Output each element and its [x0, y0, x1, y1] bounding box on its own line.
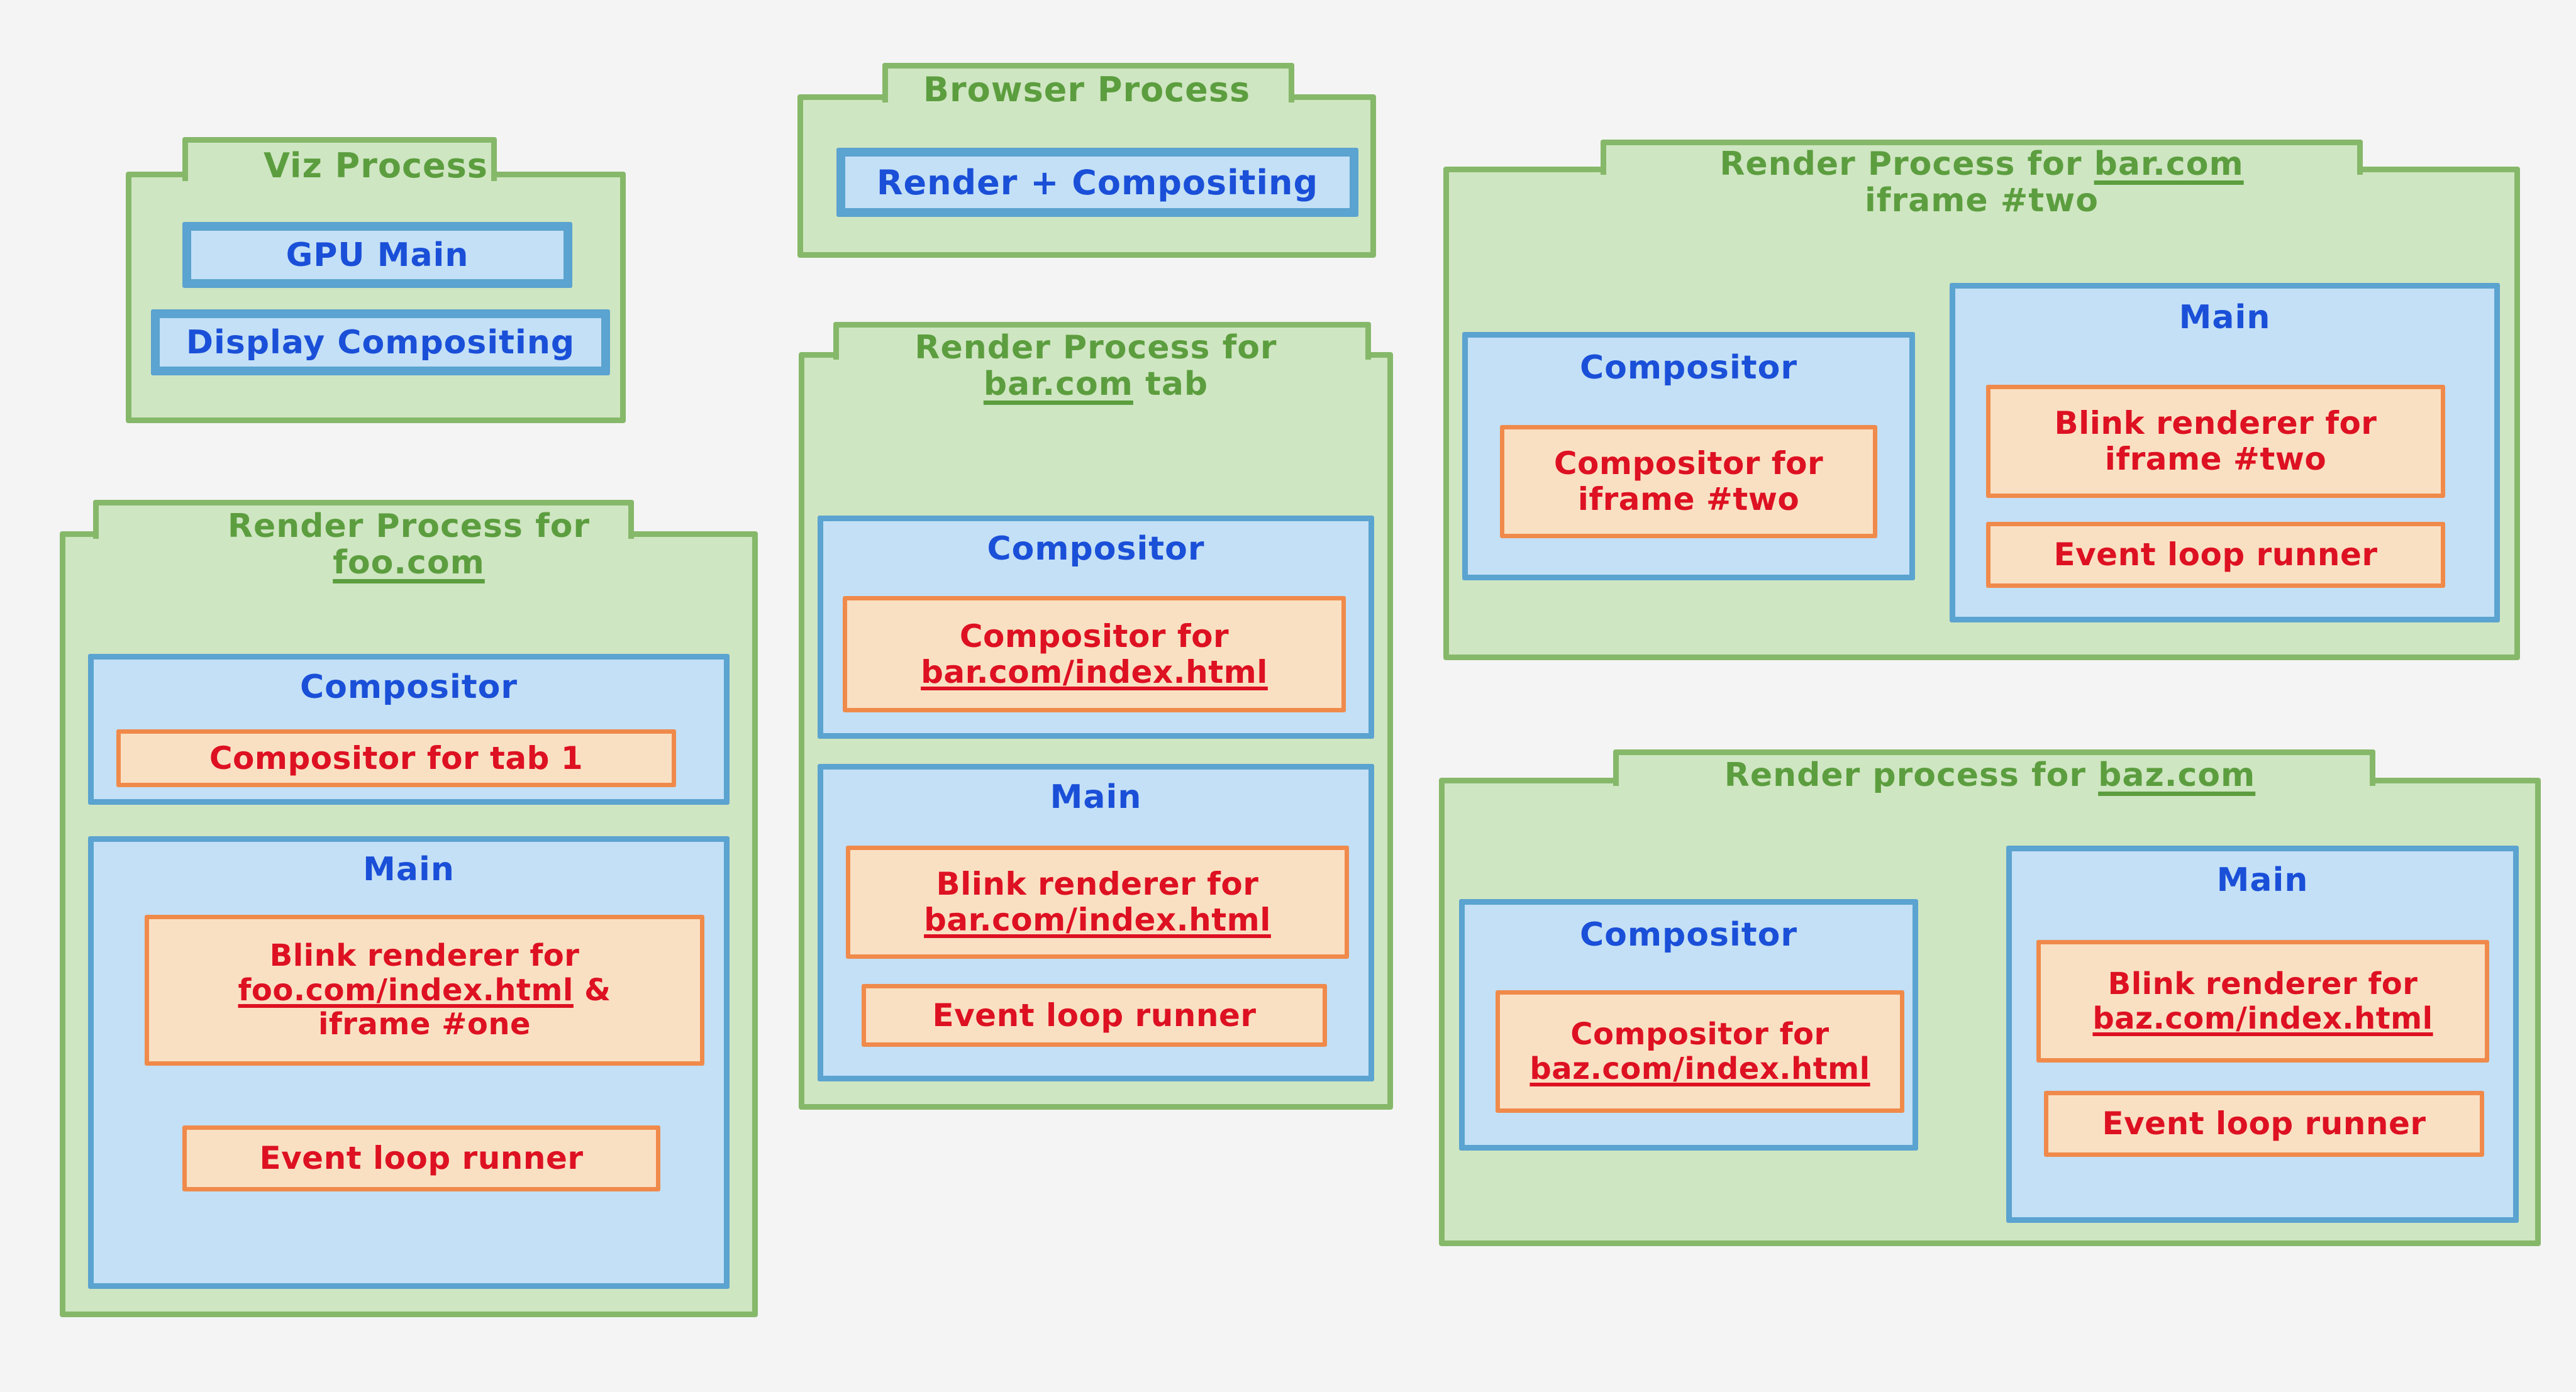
task-line1: Blink renderer for [2055, 405, 2377, 441]
task-line2: iframe #two [2105, 441, 2327, 477]
task-line1: Compositor for [1570, 1017, 1829, 1052]
process-title-line2: iframe #two [1865, 182, 2099, 219]
thread-label-display-compositing: Display Compositing [186, 324, 575, 362]
process-title-bar-iframe: Render Process for bar.com iframe #two [1443, 146, 2520, 219]
task-label-baz-compositor-url: Compositor for baz.com/index.html [1529, 1017, 1870, 1086]
task-line1: Compositor for [1554, 445, 1823, 482]
task-box-baz-blink-renderer: Blink renderer for baz.com/index.html [2036, 940, 2489, 1063]
task-box-bar-tab-blink-renderer: Blink renderer for bar.com/index.html [846, 846, 1349, 959]
thread-box-render-compositing: Render + Compositing [836, 148, 1358, 217]
task-label-bar-iframe-compositor: Compositor for iframe #two [1554, 446, 1823, 517]
task-label-bar-iframe-event-loop-runner: Event loop runner [2053, 537, 2377, 573]
process-title-line2-suffix: tab [1133, 365, 1208, 403]
process-title-line2-url: bar.com [984, 365, 1133, 403]
task-box-bar-iframe-blink-renderer: Blink renderer for iframe #two [1986, 385, 2445, 498]
process-title-line2: foo.com [333, 544, 485, 582]
process-title-line1: Render Process for [228, 507, 590, 545]
task-line1: Compositor for [960, 618, 1229, 655]
task-box-foo-event-loop-runner: Event loop runner [182, 1125, 660, 1191]
task-label-foo-blink-renderer: Blink renderer for foo.com/index.html & … [238, 939, 611, 1042]
thread-label-foo-main: Main [94, 851, 724, 888]
process-title-browser: Browser Process [797, 71, 1376, 109]
task-line1: Blink renderer for [270, 938, 580, 973]
process-title-text: Viz Process [264, 146, 488, 185]
task-line2-url: bar.com/index.html [921, 654, 1268, 690]
task-label-bar-tab-blink-renderer: Blink renderer for bar.com/index.html [924, 866, 1271, 938]
task-line3: iframe #one [318, 1007, 531, 1042]
thread-label-baz-compositor: Compositor [1465, 916, 1913, 954]
process-title-foo: Render Process for foo.com [60, 508, 758, 581]
task-box-foo-blink-renderer: Blink renderer for foo.com/index.html & … [145, 915, 704, 1066]
process-title-text: Browser Process [923, 70, 1250, 109]
process-box-viz [126, 172, 626, 423]
thread-label-bar-tab-compositor: Compositor [823, 530, 1368, 568]
thread-label-bar-iframe-main: Main [1955, 299, 2494, 336]
task-label-baz-event-loop-runner: Event loop runner [2102, 1106, 2426, 1142]
task-line2-suffix: & [574, 973, 611, 1008]
task-line1: Blink renderer for [2108, 966, 2418, 1002]
task-box-bar-iframe-compositor: Compositor for iframe #two [1500, 425, 1877, 538]
process-title-baz: Render process for baz.com [1439, 757, 2541, 793]
task-line2-url: baz.com/index.html [2092, 1001, 2433, 1036]
task-label-foo-event-loop-runner: Event loop runner [259, 1141, 583, 1176]
task-line2-url: foo.com/index.html [238, 973, 574, 1008]
thread-label-gpu-main: GPU Main [286, 236, 469, 274]
process-title-viz: Viz Process [126, 147, 626, 185]
task-box-foo-compositor-tab1: Compositor for tab 1 [116, 729, 676, 787]
task-label-bar-iframe-blink-renderer: Blink renderer for iframe #two [2055, 406, 2377, 477]
process-title-line1: Render Process for [914, 329, 1277, 367]
task-box-baz-event-loop-runner: Event loop runner [2044, 1091, 2484, 1157]
task-line2-url: baz.com/index.html [1529, 1051, 1870, 1086]
task-label-bar-tab-compositor-url: Compositor for bar.com/index.html [921, 619, 1268, 690]
process-title-prefix: Render process for [1724, 756, 2098, 794]
thread-box-display-compositing: Display Compositing [151, 309, 610, 375]
process-title-bar-tab: Render Process for bar.com tab [799, 329, 1393, 402]
process-title-url: baz.com [2098, 756, 2255, 794]
task-line2-url: bar.com/index.html [924, 902, 1271, 938]
thread-label-bar-tab-main: Main [823, 778, 1368, 816]
thread-label-baz-main: Main [2012, 861, 2513, 899]
task-label-bar-tab-event-loop-runner: Event loop runner [932, 998, 1256, 1034]
task-box-bar-tab-compositor-url: Compositor for bar.com/index.html [843, 596, 1346, 712]
task-label-foo-compositor-tab1: Compositor for tab 1 [209, 741, 583, 776]
process-title-line1-prefix: Render Process for [1719, 145, 2094, 183]
thread-label-foo-compositor: Compositor [94, 668, 724, 706]
thread-label-bar-iframe-compositor: Compositor [1468, 349, 1909, 387]
thread-label-render-compositing: Render + Compositing [877, 163, 1318, 202]
task-box-baz-compositor-url: Compositor for baz.com/index.html [1496, 990, 1904, 1113]
task-box-bar-iframe-event-loop-runner: Event loop runner [1986, 522, 2445, 588]
task-line1: Blink renderer for [936, 866, 1259, 902]
task-box-bar-tab-event-loop-runner: Event loop runner [862, 984, 1327, 1047]
task-label-baz-blink-renderer: Blink renderer for baz.com/index.html [2092, 967, 2433, 1036]
task-line2: iframe #two [1578, 481, 1800, 517]
thread-box-gpu-main: GPU Main [182, 222, 572, 288]
process-title-line1-url: bar.com [2094, 145, 2244, 183]
